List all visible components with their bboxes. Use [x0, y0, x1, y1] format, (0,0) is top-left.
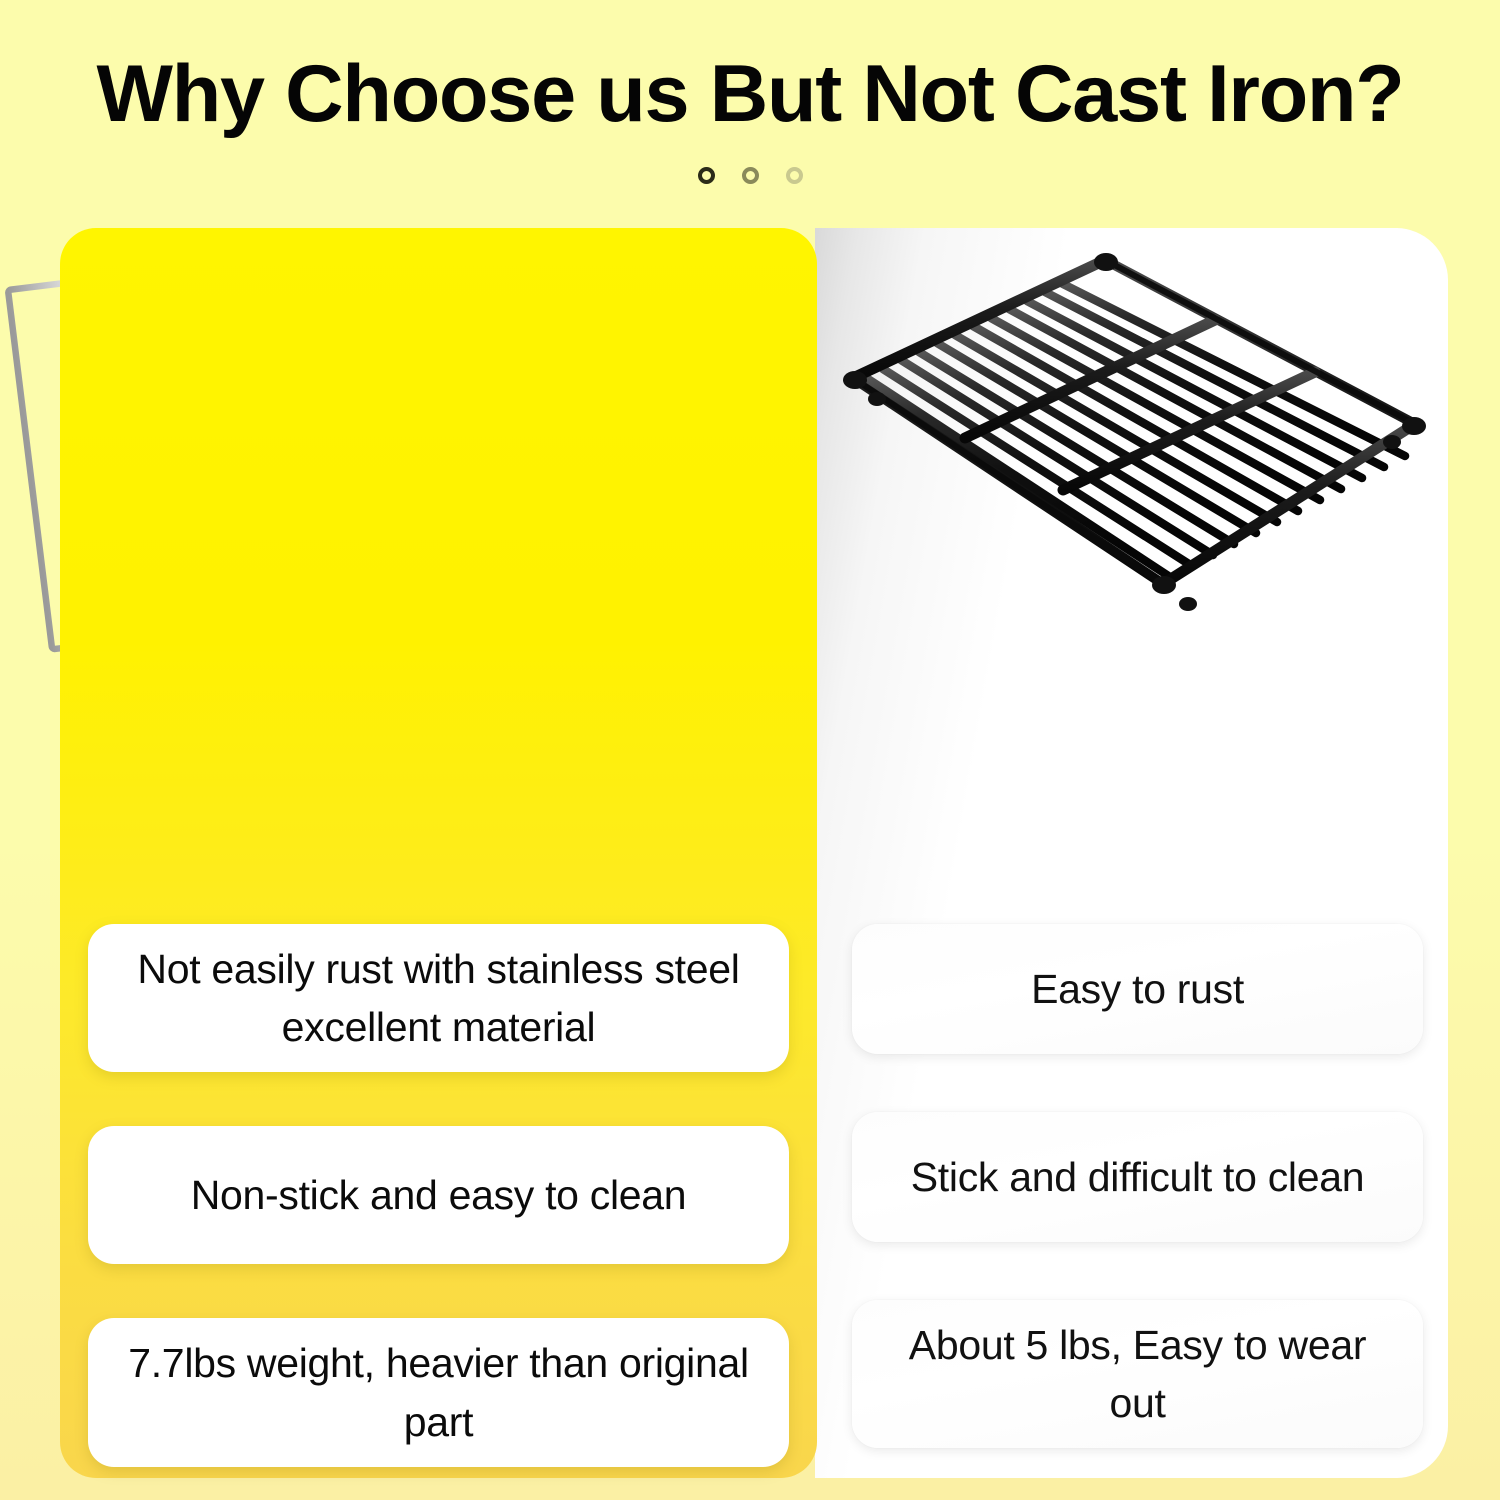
- carousel-dot-3-icon[interactable]: [786, 167, 803, 184]
- carousel-dots: [0, 163, 1500, 187]
- feature-card-text: Easy to rust: [1031, 960, 1244, 1018]
- feature-card[interactable]: About 5 lbs, Easy to wear out: [852, 1300, 1423, 1448]
- feature-card-text: Not easily rust with stainless steel exc…: [114, 940, 763, 1056]
- feature-card[interactable]: Not easily rust with stainless steel exc…: [88, 924, 789, 1072]
- feature-card-text: Stick and difficult to clean: [911, 1148, 1365, 1206]
- feature-card[interactable]: Non-stick and easy to clean: [88, 1126, 789, 1264]
- stainless-feature-list: Not easily rust with stainless steel exc…: [88, 924, 789, 1500]
- feature-card[interactable]: Stick and difficult to clean: [852, 1112, 1423, 1242]
- feature-card[interactable]: Easy to rust: [852, 924, 1423, 1054]
- carousel-dot-1-icon[interactable]: [698, 167, 715, 184]
- feature-card-text: About 5 lbs, Easy to wear out: [878, 1316, 1397, 1432]
- feature-card-text: 7.7lbs weight, heavier than original par…: [114, 1334, 763, 1450]
- feature-card[interactable]: 7.7lbs weight, heavier than original par…: [88, 1318, 789, 1466]
- feature-card-text: Non-stick and easy to clean: [191, 1166, 687, 1224]
- comparison-panels: Not easily rust with stainless steel exc…: [0, 228, 1500, 1480]
- header: Why Choose us But Not Cast Iron?: [0, 0, 1500, 187]
- carousel-dot-2-icon[interactable]: [742, 167, 759, 184]
- cast-iron-grate-image: [815, 228, 1448, 683]
- page-title: Why Choose us But Not Cast Iron?: [0, 0, 1500, 137]
- cast-iron-feature-list: Easy to rust Stick and difficult to clea…: [852, 924, 1423, 1500]
